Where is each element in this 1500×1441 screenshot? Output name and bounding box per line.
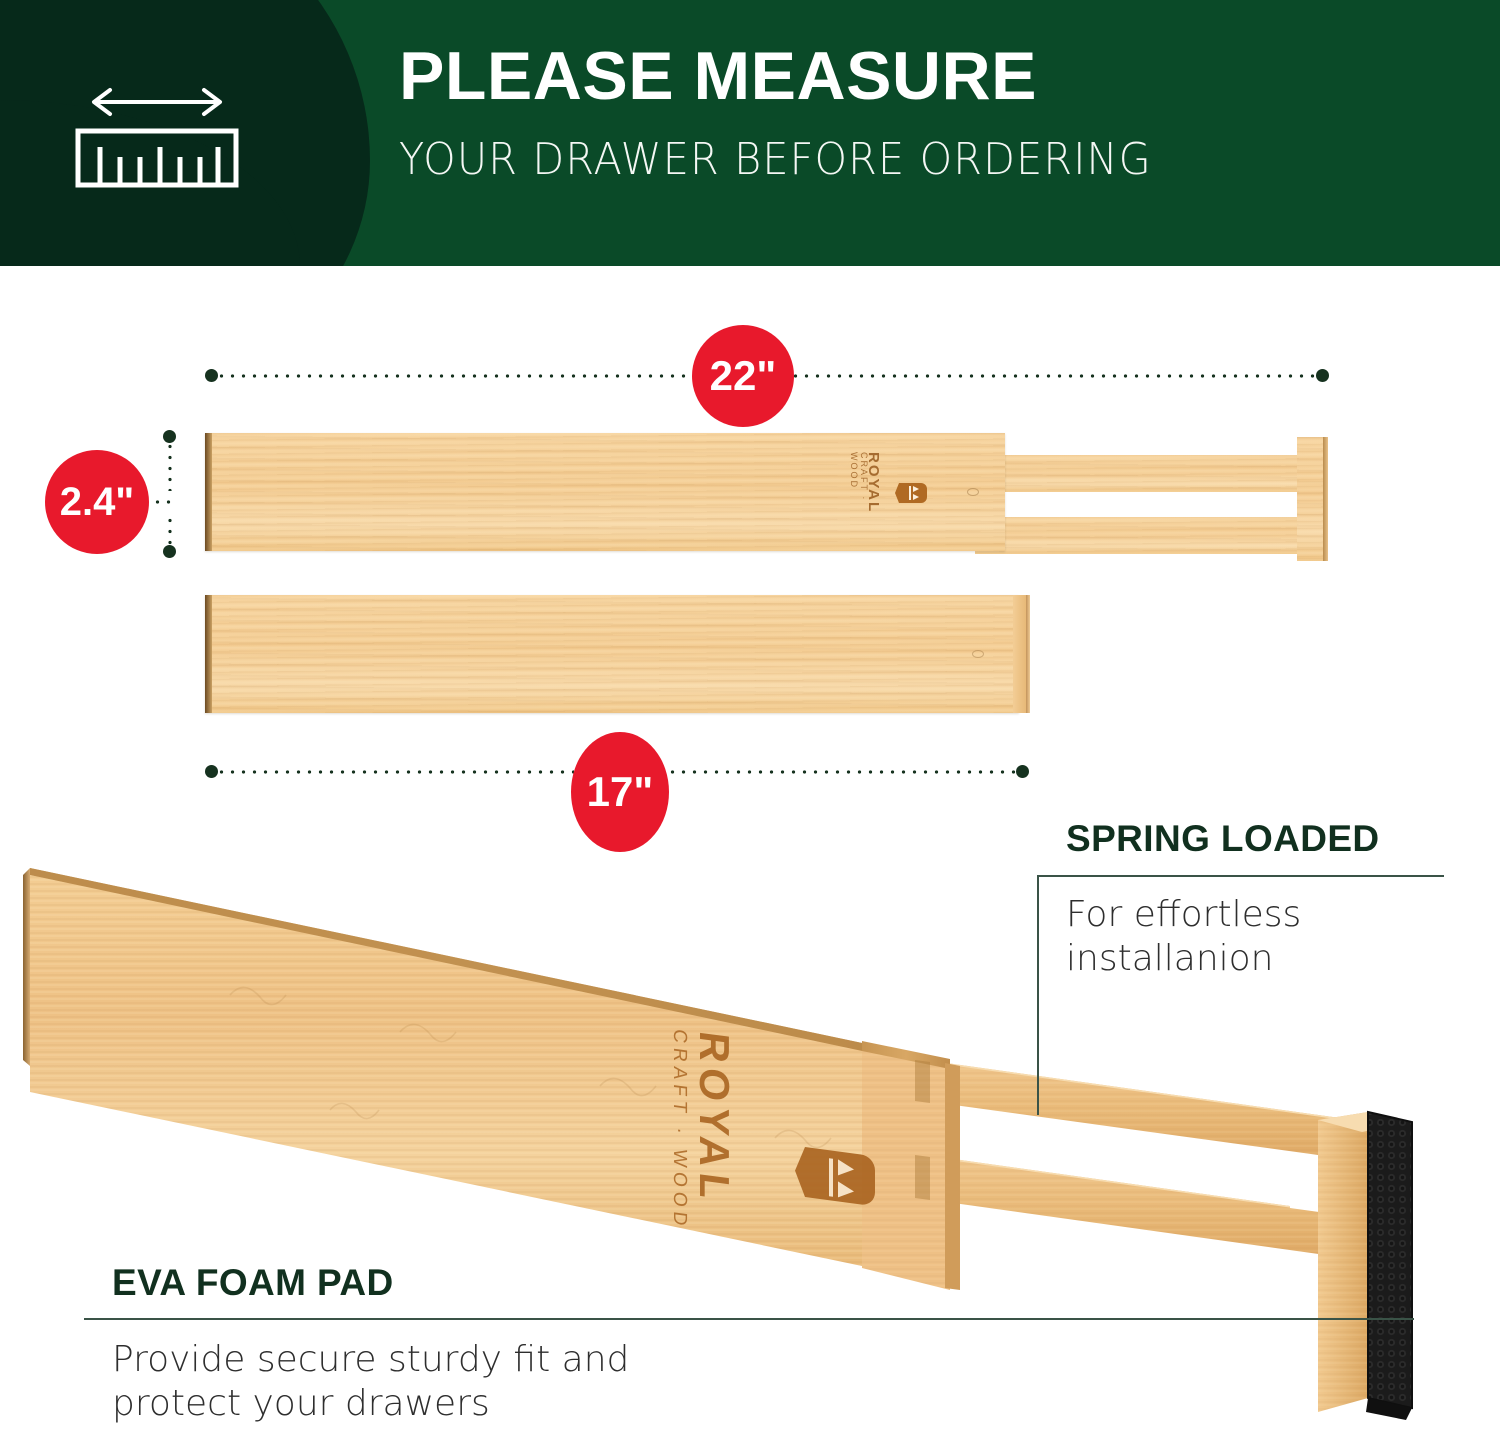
dim-endpoint-left-17	[205, 765, 218, 778]
divider-knot-detail	[967, 488, 979, 496]
extension-arm-end-cap	[1297, 437, 1323, 561]
divider-compressed-body	[205, 595, 1019, 713]
dim-endpoint-right-17	[1016, 765, 1029, 778]
callout-spring-loaded-rule	[1037, 875, 1444, 877]
page-title: PLEASE MEASURE	[399, 42, 1299, 110]
dim-line-17-left-segment	[216, 770, 574, 774]
callout-spring-loaded-body: For effortless installanion	[1066, 893, 1446, 981]
callout-spring-loaded-title: SPRING LOADED	[1066, 818, 1380, 860]
divider-compressed-end-cap	[1013, 595, 1026, 713]
brand-tagline: CRAFT · WOOD	[849, 452, 869, 534]
header-text-block: PLEASE MEASURE YOUR DRAWER BEFORE ORDERI…	[399, 42, 1299, 182]
callout-eva-foam-pad-body: Provide secure sturdy fit and protect yo…	[112, 1338, 672, 1426]
eva-foam-end-cap	[1318, 1112, 1412, 1420]
dim-line-22-left-segment	[216, 374, 696, 378]
dim-line-22-right-segment	[790, 374, 1320, 378]
ruler-measure-icon	[72, 76, 242, 192]
divider-expanded-left-edge	[205, 433, 212, 551]
header-banner: PLEASE MEASURE YOUR DRAWER BEFORE ORDERI…	[0, 0, 1500, 266]
dim-line-height-upper	[168, 441, 172, 491]
page-subtitle: YOUR DRAWER BEFORE ORDERING	[399, 138, 1245, 182]
callout-eva-foam-pad-rule	[84, 1318, 1414, 1320]
extension-arm-end-cap-shadow	[1323, 437, 1328, 561]
svg-text:CRAFT · WOOD: CRAFT · WOOD	[669, 1028, 690, 1232]
divider-compressed-end-cap-shadow	[1026, 595, 1030, 713]
callout-spring-loaded-leader-line	[1037, 875, 1039, 1115]
dimension-badge-height: 2.4"	[45, 450, 149, 554]
dim-endpoint-right-22	[1316, 369, 1329, 382]
extension-arm-lower-rail	[975, 517, 1305, 554]
dimension-badge-length-expanded: 22"	[692, 325, 794, 427]
perspective-divider-body	[23, 868, 960, 1290]
divider-compressed-left-edge	[205, 595, 212, 713]
crown-shield-icon	[893, 474, 931, 512]
perspective-extension-arm	[925, 1060, 1359, 1257]
dim-line-17-right-segment	[667, 770, 1020, 774]
extension-arm-upper-rail	[975, 455, 1305, 492]
callout-eva-foam-pad-title: EVA FOAM PAD	[112, 1262, 394, 1304]
dim-endpoint-top-height	[163, 430, 176, 443]
svg-text:ROYAL: ROYAL	[691, 1029, 738, 1208]
dim-endpoint-left-22	[205, 369, 218, 382]
dim-endpoint-bottom-height	[163, 545, 176, 558]
dimension-badge-length-compressed: 17"	[571, 732, 669, 852]
divider-compressed-knot-detail	[972, 650, 984, 658]
brand-logo-top-divider: ROYAL CRAFT · WOOD	[833, 452, 963, 534]
